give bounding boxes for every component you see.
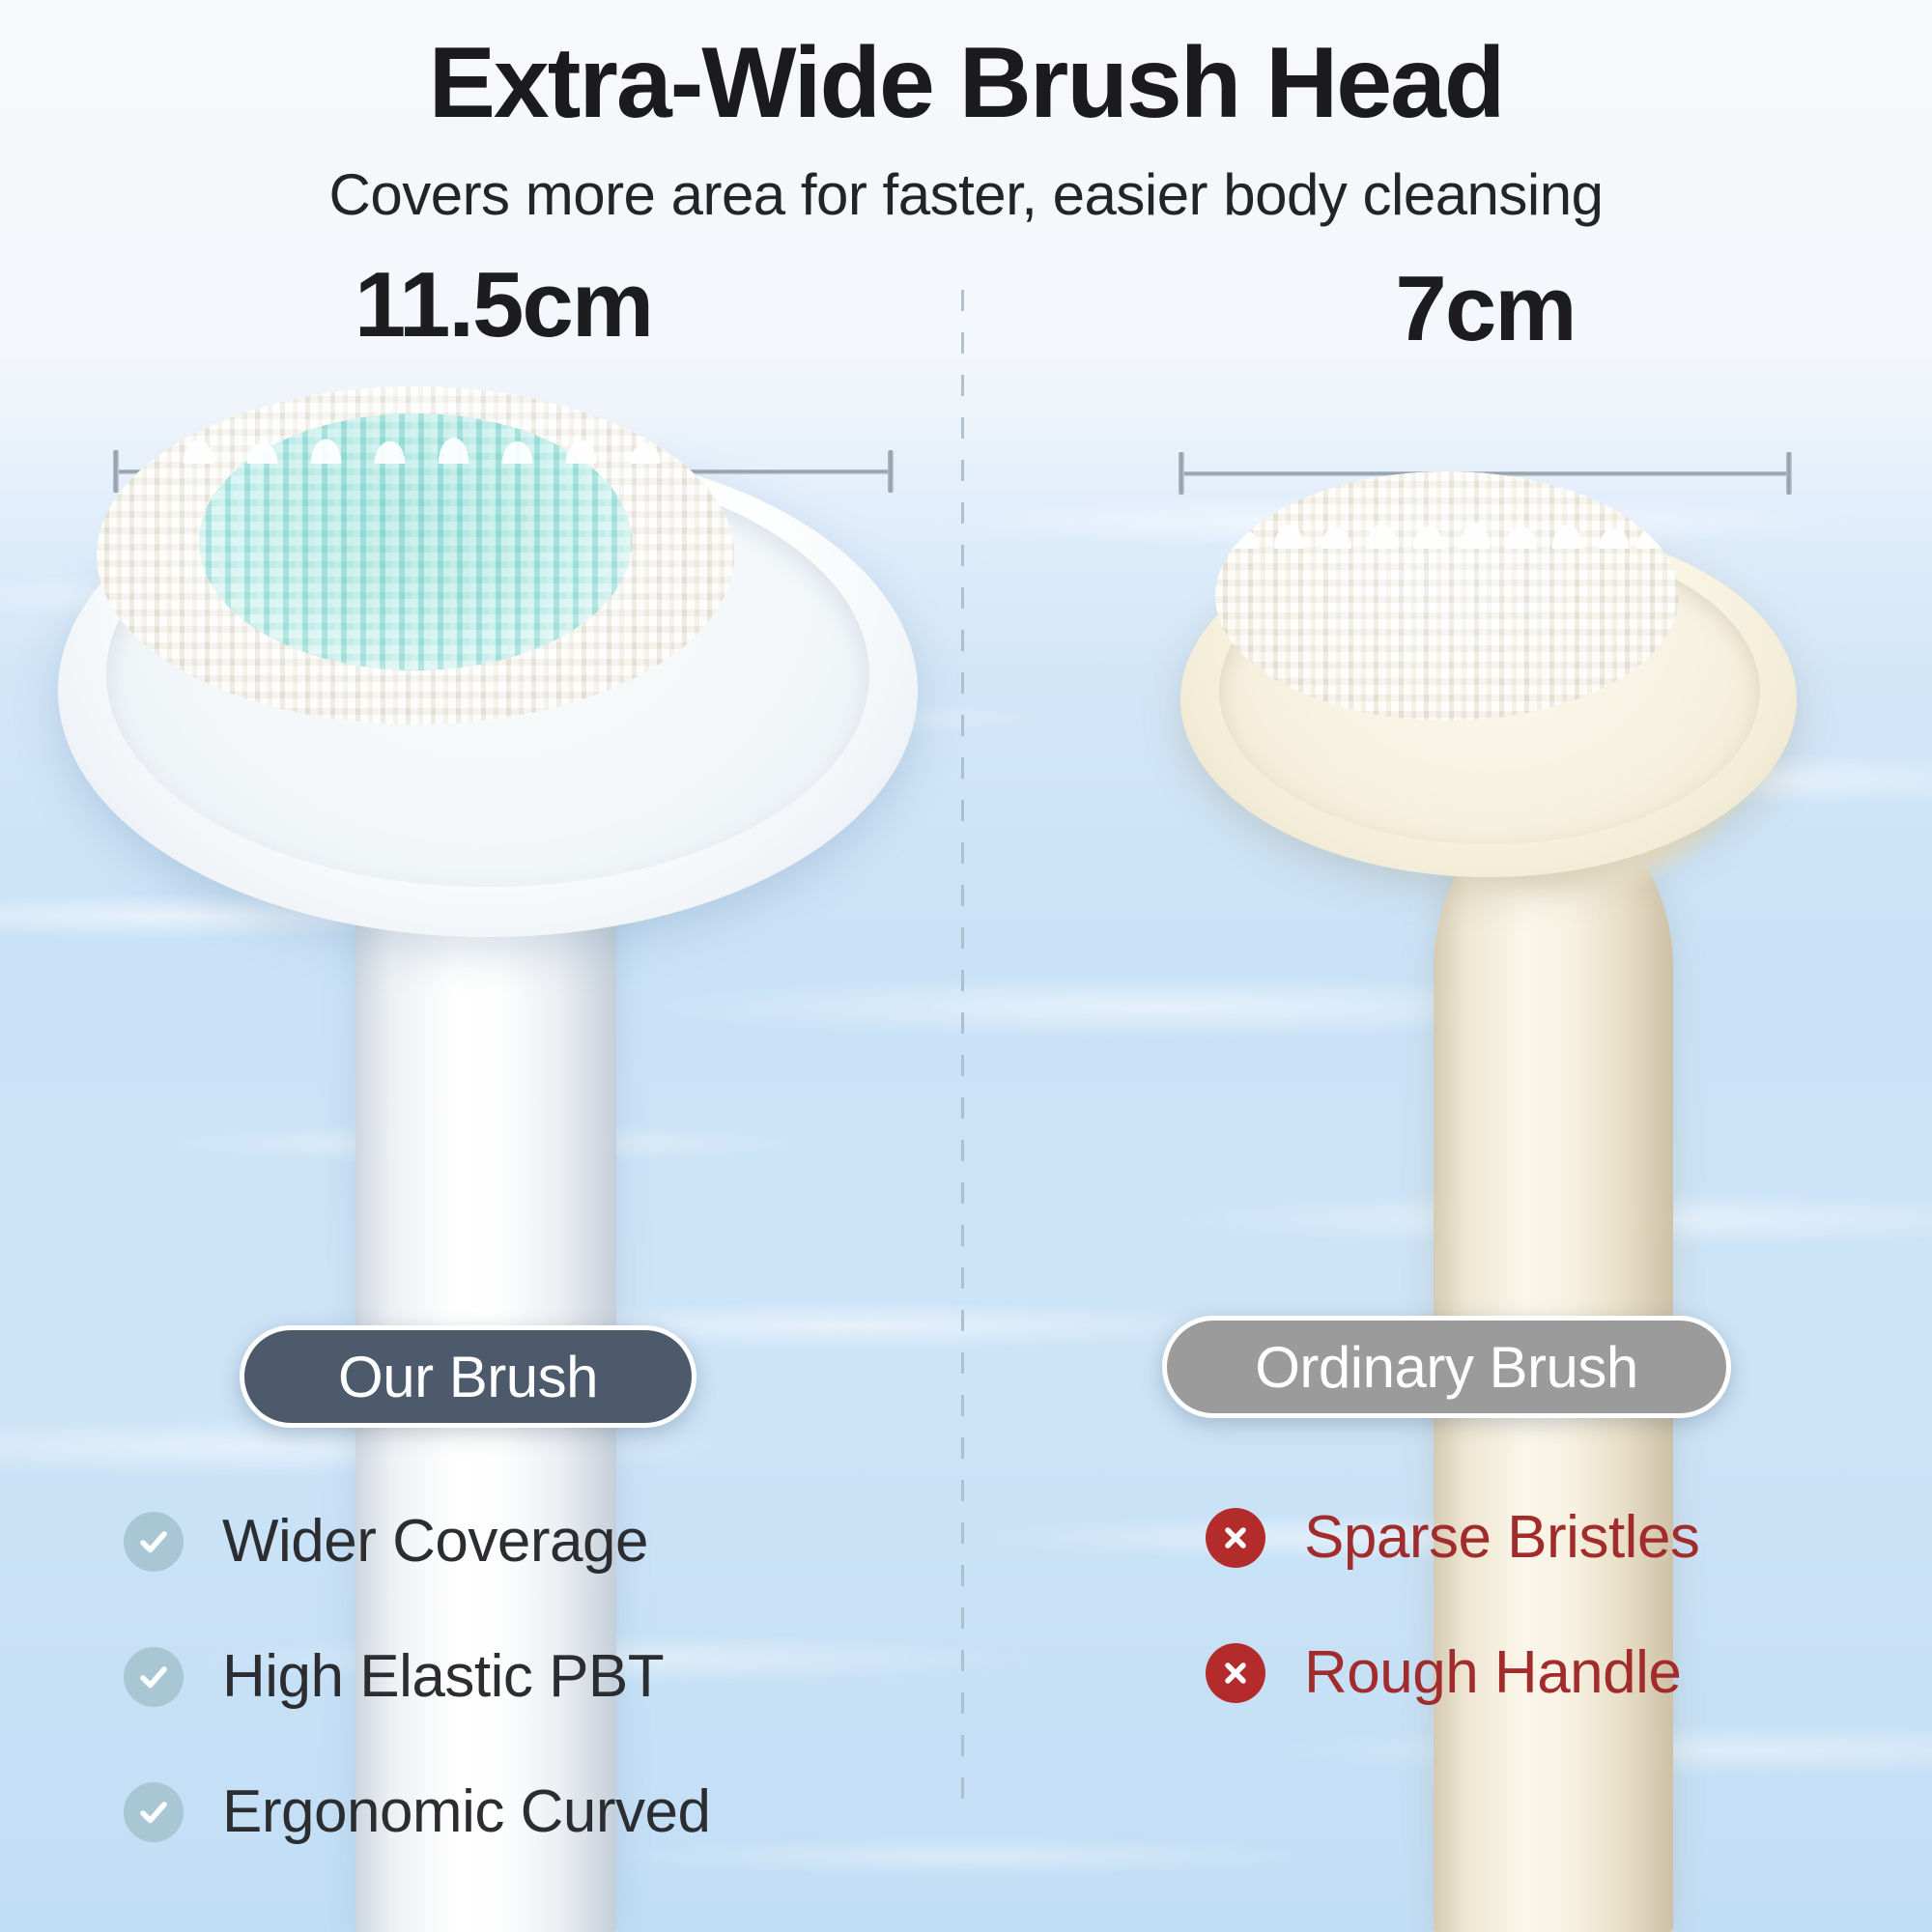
feature-label: High Elastic PBT	[222, 1647, 664, 1707]
measurement-label-right: 7cm	[1179, 263, 1792, 355]
feature-row: Ergonomic Curved	[124, 1772, 710, 1853]
badge-our-brush: Our Brush	[240, 1325, 696, 1428]
feature-label: Sparse Bristles	[1304, 1508, 1699, 1568]
feature-row: Wider Coverage	[124, 1501, 710, 1582]
check-circle-icon	[124, 1512, 184, 1572]
dimension-cap-end	[1786, 452, 1792, 495]
cross-circle-icon	[1206, 1643, 1265, 1703]
feature-row: Rough Handle	[1206, 1633, 1699, 1714]
bristle-tip-crown	[1215, 471, 1679, 549]
feature-list-ordinary: Sparse Bristles Rough Handle	[1206, 1497, 1699, 1714]
dimension-cap-end	[888, 450, 894, 493]
badge-label: Ordinary Brush	[1255, 1334, 1637, 1401]
header: Extra-Wide Brush Head Covers more area f…	[0, 0, 1932, 241]
vertical-dashed-divider	[961, 290, 964, 1816]
page-subtitle: Covers more area for faster, easier body…	[0, 133, 1932, 224]
feature-row: Sparse Bristles	[1206, 1497, 1699, 1578]
dimension-cap-start	[1179, 452, 1184, 495]
infographic-canvas: Extra-Wide Brush Head Covers more area f…	[0, 0, 1932, 1932]
feature-row: High Elastic PBT	[124, 1636, 710, 1718]
check-circle-icon	[124, 1647, 184, 1707]
feature-label: Rough Handle	[1304, 1643, 1681, 1703]
feature-list-ours: Wider Coverage High Elastic PBT Ergonomi…	[124, 1501, 710, 1853]
feature-label: Wider Coverage	[222, 1512, 648, 1572]
bristle-field-ordinary	[1215, 471, 1679, 721]
badge-label: Our Brush	[338, 1344, 598, 1410]
bristle-tip-crown	[97, 386, 734, 464]
feature-label: Ergonomic Curved	[222, 1782, 710, 1842]
cross-circle-icon	[1206, 1508, 1265, 1568]
bristle-field-ours	[97, 386, 734, 724]
page-title: Extra-Wide Brush Head	[0, 0, 1932, 133]
badge-ordinary-brush: Ordinary Brush	[1162, 1316, 1731, 1418]
check-circle-icon	[124, 1782, 184, 1842]
measurement-label-left: 11.5cm	[113, 259, 894, 352]
